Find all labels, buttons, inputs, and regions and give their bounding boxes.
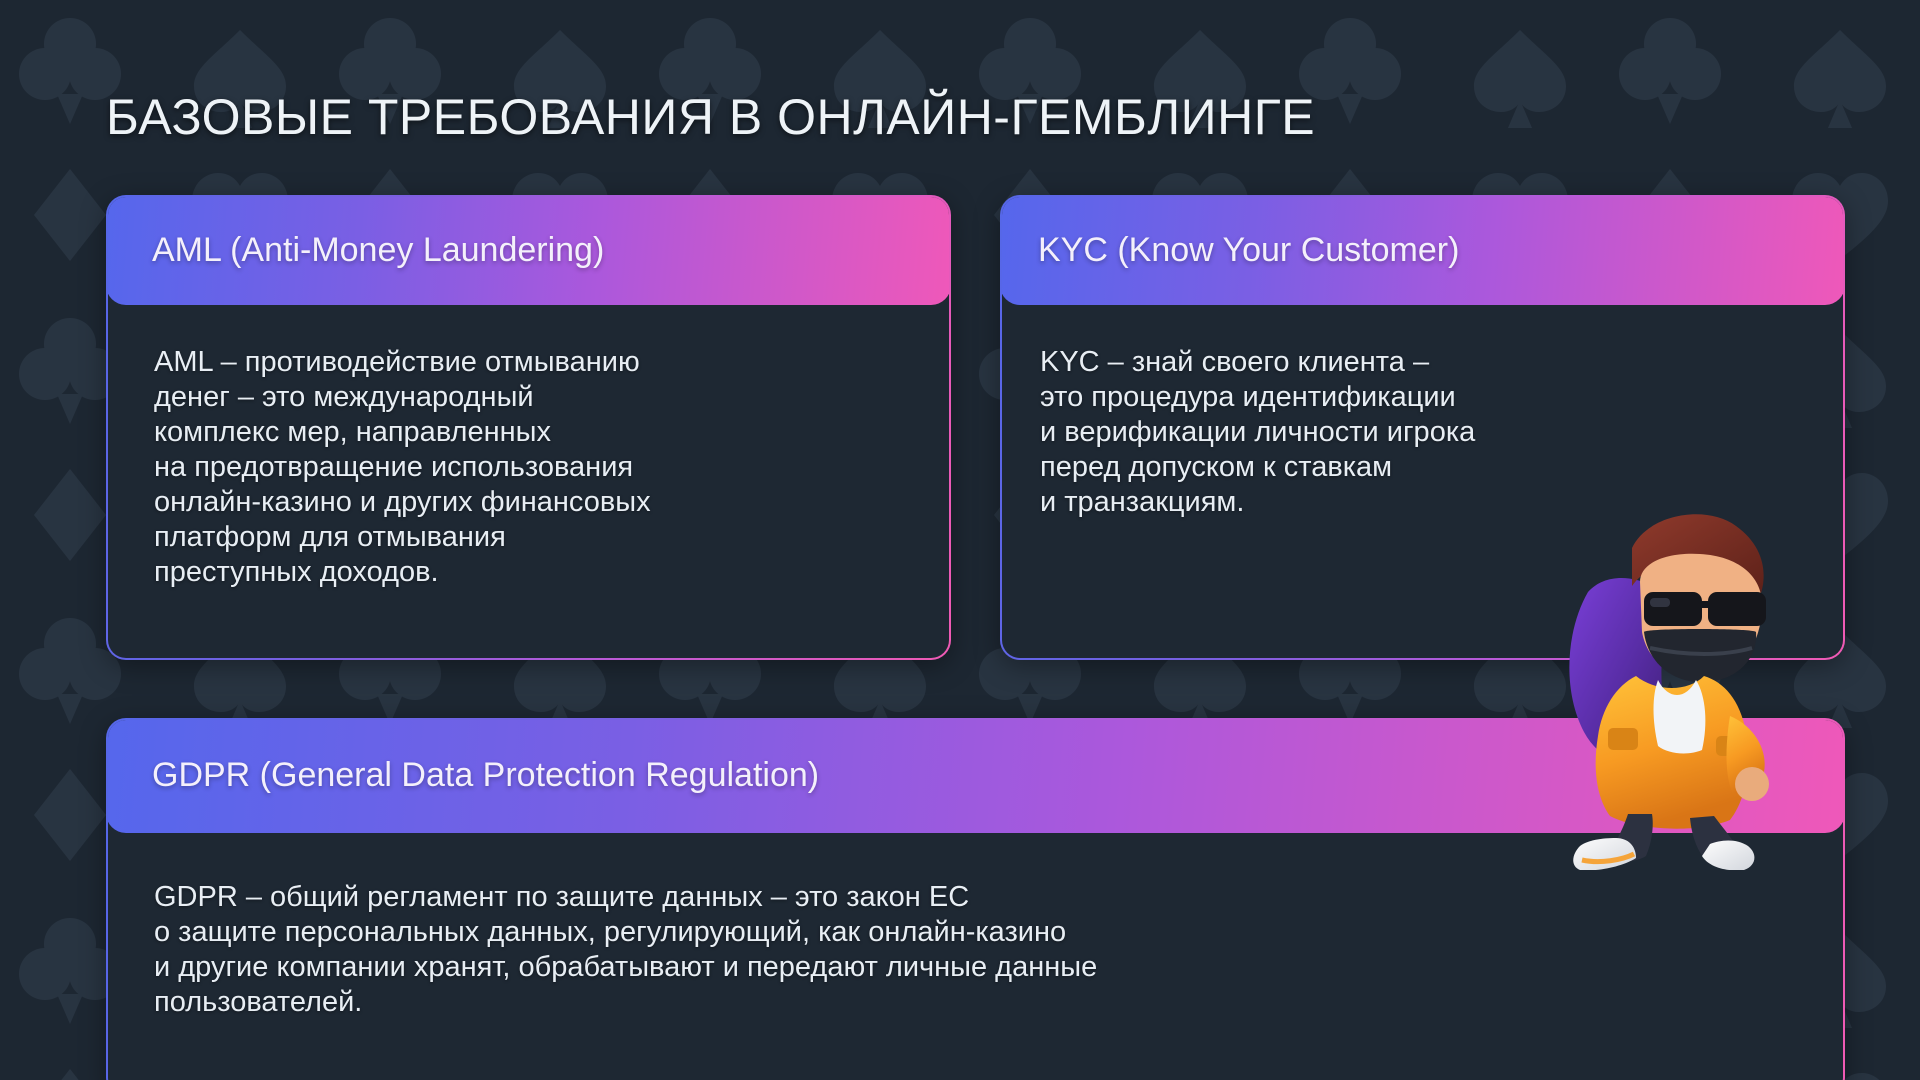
card-kyc-header-label: KYC (Know Your Customer) [1038,231,1459,270]
card-gdpr: GDPR (General Data Protection Regulation… [106,718,1845,1080]
card-kyc-header: KYC (Know Your Customer) [1002,197,1843,305]
card-aml-body: AML – противодействие отмыванию денег – … [154,345,651,590]
card-gdpr-inner: GDPR (General Data Protection Regulation… [108,720,1843,1080]
card-aml-inner: AML (Anti-Money Laundering) AML – против… [108,197,949,658]
slide-root: БАЗОВЫЕ ТРЕБОВАНИЯ В ОНЛАЙН-ГЕМБЛИНГЕ AM… [0,0,1920,1080]
card-gdpr-header: GDPR (General Data Protection Regulation… [108,720,1843,833]
card-kyc: KYC (Know Your Customer) KYC – знай свое… [1000,195,1845,660]
card-aml: AML (Anti-Money Laundering) AML – против… [106,195,951,660]
card-gdpr-body: GDPR – общий регламент по защите данных … [154,880,1097,1020]
card-aml-header: AML (Anti-Money Laundering) [108,197,949,305]
card-kyc-inner: KYC (Know Your Customer) KYC – знай свое… [1002,197,1843,658]
card-aml-header-label: AML (Anti-Money Laundering) [152,231,604,270]
page-title: БАЗОВЫЕ ТРЕБОВАНИЯ В ОНЛАЙН-ГЕМБЛИНГЕ [106,88,1315,146]
card-kyc-body: KYC – знай своего клиента – это процедур… [1040,345,1475,520]
card-gdpr-header-label: GDPR (General Data Protection Regulation… [152,756,819,795]
